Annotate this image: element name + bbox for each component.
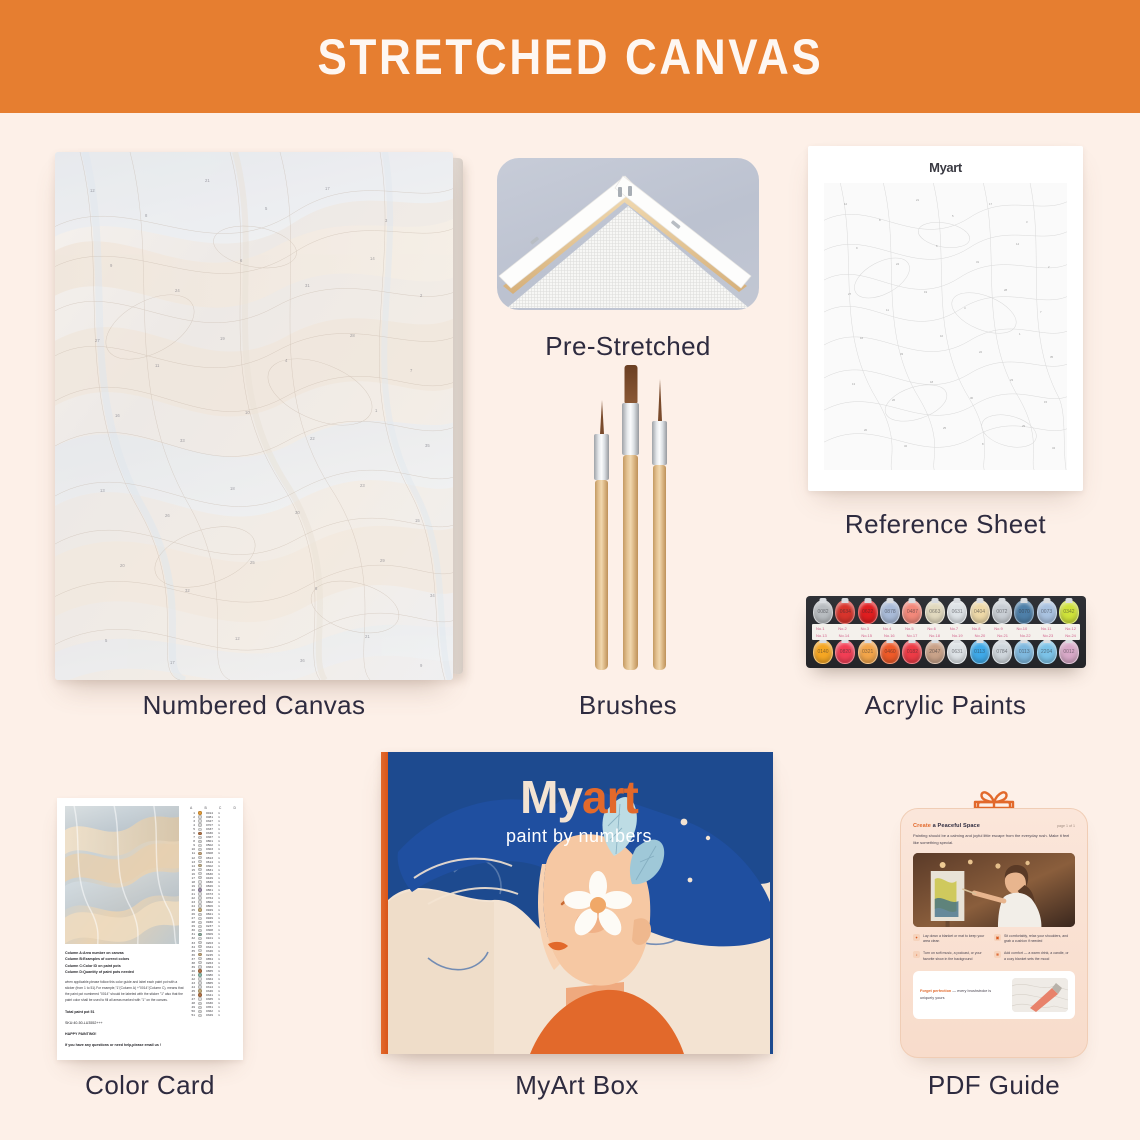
box-logo: Myart paint by numbers <box>388 774 770 847</box>
paint-label-strip: No.1No.2No.3No.4No.5No.6No.7No.8No.9No.1… <box>812 624 1080 640</box>
svg-text:20: 20 <box>120 563 125 568</box>
strip-number: No.14 <box>839 633 850 638</box>
svg-text:28: 28 <box>350 333 355 338</box>
th-c: C <box>219 806 221 810</box>
svg-text:18: 18 <box>930 380 934 384</box>
svg-text:22: 22 <box>310 436 315 441</box>
paint-pot: 0663 <box>925 600 945 624</box>
paint-pot: 0487 <box>902 600 922 624</box>
svg-text:30: 30 <box>295 510 300 515</box>
svg-text:12: 12 <box>90 188 95 193</box>
strip-number: No.3 <box>861 626 869 631</box>
pdf-guide-label: PDF Guide <box>890 1070 1098 1101</box>
svg-text:11: 11 <box>155 363 160 368</box>
paint-pot-code: 0460 <box>881 641 899 663</box>
color-card-sku: SKU:40-50-LU3552+++ <box>65 1020 185 1027</box>
svg-text:34: 34 <box>1052 446 1056 450</box>
color-card-contact: If you have any questions or need help,p… <box>65 1042 185 1049</box>
svg-text:21: 21 <box>916 198 920 202</box>
svg-text:29: 29 <box>380 558 385 563</box>
paint-pot-code: 0113 <box>971 641 989 663</box>
logo-my: My <box>520 771 582 823</box>
svg-text:25: 25 <box>250 560 255 565</box>
paint-pot: 0634 <box>835 600 855 624</box>
header-banner: STRETCHED CANVAS <box>0 0 1140 113</box>
reference-sheet-paper: Myart <box>808 146 1083 491</box>
strip-number: No.13 <box>816 633 827 638</box>
svg-text:10: 10 <box>245 410 250 415</box>
frame-corner-photo <box>497 158 759 310</box>
paint-pot: 0321 <box>858 640 878 664</box>
pdf-tip: ❋Add comfort — a warm drink, a candle, o… <box>994 951 1075 963</box>
strip-number: No.20 <box>975 633 986 638</box>
strip-number: No.24 <box>1065 633 1076 638</box>
paint-pot-code: 0182 <box>903 641 921 663</box>
svg-text:26: 26 <box>892 398 896 402</box>
paint-pot-code: 0404 <box>971 601 989 623</box>
paint-pot-code: 0634 <box>836 601 854 623</box>
brush-handle <box>595 480 608 670</box>
paint-pot: 2047 <box>925 640 945 664</box>
paint-pot: 0082 <box>813 600 833 624</box>
marble-pattern-artwork: 12821 5173 9246 31142 271119 4287 163310… <box>55 152 453 680</box>
logo-art: art <box>582 771 638 823</box>
pdf-guide-page: Create a Peaceful Space page 1 of 1 Pain… <box>900 808 1088 1058</box>
pdf-guide-photo <box>913 853 1075 927</box>
svg-text:36: 36 <box>300 658 305 663</box>
color-card-product: Column A:Area number on canvas Column B:… <box>57 798 243 1060</box>
paint-pot-row-top: 0082063406220878048706630631040400720070… <box>811 600 1081 624</box>
paint-pot-code: 0820 <box>836 641 854 663</box>
pdf-tip-text: Add comfort — a warm drink, a candle, or… <box>1004 951 1071 963</box>
svg-text:23: 23 <box>1010 378 1014 382</box>
paint-pot-code: 0140 <box>814 641 832 663</box>
color-card-table: A B C D 10014120081130327140707150337160… <box>185 806 237 1054</box>
legend-column-d: Column D:Quantity of paint pots needed <box>65 969 185 975</box>
finished-artwork-preview <box>65 806 179 944</box>
paint-pot: 0072 <box>992 600 1012 624</box>
svg-text:12: 12 <box>844 202 848 206</box>
brushes-label: Brushes <box>487 690 769 721</box>
pre-stretched-label: Pre-Stretched <box>487 331 769 362</box>
strip-number: No.19 <box>952 633 963 638</box>
strip-number: No.21 <box>997 633 1008 638</box>
paint-pot: 0820 <box>835 640 855 664</box>
brush-liner <box>653 402 666 670</box>
strip-number: No.18 <box>929 633 940 638</box>
strip-numbers-top: No.1No.2No.3No.4No.5No.6No.7No.8No.9No.1… <box>816 626 1076 631</box>
svg-text:16: 16 <box>115 413 120 418</box>
color-card-row: 5103291 <box>189 1013 237 1017</box>
th-b: B <box>204 806 206 810</box>
svg-text:19: 19 <box>924 290 928 294</box>
paint-pot-code: 0070 <box>1015 601 1033 623</box>
color-card-sheet: Column A:Area number on canvas Column B:… <box>57 798 243 1060</box>
numbered-canvas-label: Numbered Canvas <box>55 690 453 721</box>
myart-box-label: MyArt Box <box>381 1070 773 1101</box>
pdf-tip-text: Lay down a blanket or mat to keep your a… <box>923 934 990 946</box>
paint-pot-code: 0631 <box>948 601 966 623</box>
cushion-icon: ▣ <box>994 934 1001 941</box>
pdf-guide-title: Create a Peaceful Space <box>913 823 980 829</box>
paint-pot-row-bottom: 0140082003210460018220470631011307840113… <box>811 640 1081 664</box>
strip-number: No.22 <box>1020 633 1031 638</box>
strip-number: No.5 <box>905 626 913 631</box>
cell-area-number: 51 <box>189 1013 197 1017</box>
strip-number: No.17 <box>907 633 918 638</box>
brush-handle <box>623 455 638 670</box>
color-card-happy-painting: HAPPY PAINTING! <box>65 1031 185 1038</box>
pdf-tip: ♪Turn on soft music, a podcast, or your … <box>913 951 994 963</box>
reference-sheet-product: Myart <box>808 146 1083 491</box>
callout-highlight: Forget perfection <box>920 989 951 993</box>
brush-bristles <box>600 400 604 434</box>
strip-number: No.12 <box>1065 626 1076 631</box>
paint-pot: 0113 <box>970 640 990 664</box>
svg-text:14: 14 <box>1016 242 1020 246</box>
paint-pot: 0012 <box>1059 640 1079 664</box>
paint-pot: 0404 <box>970 600 990 624</box>
pre-stretched-product <box>497 158 759 310</box>
acrylic-paints-label: Acrylic Paints <box>798 690 1093 721</box>
svg-text:14: 14 <box>370 256 375 261</box>
svg-text:24: 24 <box>896 262 900 266</box>
pdf-guide-product: Create a Peaceful Space page 1 of 1 Pain… <box>900 786 1088 1058</box>
color-card-left-column: Column A:Area number on canvas Column B:… <box>65 806 185 1054</box>
strip-numbers-bottom: No.13No.14No.15No.16No.17No.18No.19No.20… <box>816 633 1076 638</box>
reference-sheet-label: Reference Sheet <box>798 509 1093 540</box>
svg-text:34: 34 <box>430 593 435 598</box>
pdf-tip: ✦Lay down a blanket or mat to keep your … <box>913 934 994 946</box>
paint-pot: 0784 <box>992 640 1012 664</box>
svg-text:12: 12 <box>235 636 240 641</box>
box-body: Myart paint by numbers <box>381 752 773 1054</box>
paint-pot-code: 0082 <box>814 601 832 623</box>
svg-text:11: 11 <box>886 308 889 312</box>
box-logo-text: Myart <box>388 774 770 820</box>
cell-quantity: 1 <box>216 1013 222 1017</box>
strip-number: No.7 <box>950 626 958 631</box>
canvas-face: 12821 5173 9246 31142 271119 4287 163310… <box>55 152 453 680</box>
pdf-guide-description: Painting should be a calming and joyful … <box>913 833 1075 847</box>
strip-number: No.8 <box>972 626 980 631</box>
svg-text:17: 17 <box>170 660 175 665</box>
pdf-title-highlight: Create <box>913 823 931 829</box>
brush-small-round <box>595 425 608 670</box>
svg-text:16: 16 <box>860 336 864 340</box>
svg-text:28: 28 <box>1004 288 1008 292</box>
color-card-legend: Column A:Area number on canvas Column B:… <box>65 950 185 975</box>
brush-ferrule <box>652 421 667 465</box>
svg-text:26: 26 <box>165 513 170 518</box>
color-card-table-body: 1001412008113032714070715033716033017036… <box>189 811 237 1017</box>
svg-text:30: 30 <box>970 396 974 400</box>
paint-pot: 0140 <box>813 640 833 664</box>
reference-sheet-lineart: 12821 5173 9246 31142 271119 4287 163310… <box>824 183 1067 470</box>
box-tagline: paint by numbers <box>388 826 770 847</box>
paint-pot: 0070 <box>1014 600 1034 624</box>
strip-number: No.9 <box>994 626 1002 631</box>
brush-bristles <box>624 365 637 403</box>
paint-pot: 0342 <box>1059 600 1079 624</box>
paint-pot-code: 0073 <box>1038 601 1056 623</box>
color-card-instructions: when applicable,please follow this color… <box>65 979 185 1003</box>
svg-text:17: 17 <box>325 186 330 191</box>
lineart-pattern: 12821 5173 9246 31142 271119 4287 163310… <box>824 183 1067 470</box>
callout-thumbnail <box>1012 978 1068 1012</box>
svg-text:27: 27 <box>848 292 852 296</box>
brush-ferrule <box>622 403 639 455</box>
svg-text:15: 15 <box>1044 400 1048 404</box>
svg-text:15: 15 <box>415 518 420 523</box>
brushes-product <box>583 385 675 670</box>
music-icon: ♪ <box>913 951 920 958</box>
svg-text:17: 17 <box>989 202 993 206</box>
th-a: A <box>190 806 192 810</box>
strip-number: No.4 <box>883 626 891 631</box>
svg-text:27: 27 <box>95 338 100 343</box>
paint-tray: 0082063406220878048706630631040400720070… <box>806 596 1086 668</box>
broom-icon: ✦ <box>913 934 920 941</box>
svg-text:21: 21 <box>205 178 210 183</box>
pdf-title-rest: a Peaceful Space <box>931 823 980 829</box>
svg-text:35: 35 <box>1050 355 1054 359</box>
brush-ferrule <box>594 434 609 480</box>
pdf-tip: ▣Sit comfortably, relax your shoulders, … <box>994 934 1075 946</box>
strip-number: No.1 <box>816 626 824 631</box>
strip-number: No.11 <box>1041 626 1051 631</box>
strip-number: No.10 <box>1017 626 1028 631</box>
myart-box-product: Myart paint by numbers <box>381 752 773 1054</box>
paint-pot: 0182 <box>902 640 922 664</box>
svg-text:25: 25 <box>943 426 947 430</box>
brush-flat <box>623 385 638 670</box>
brush-bristles <box>658 379 662 421</box>
paint-pot: 0631 <box>947 640 967 664</box>
acrylic-paints-product: 0082063406220878048706630631040400720070… <box>806 596 1086 668</box>
paint-pot-code: 0012 <box>1060 641 1078 663</box>
svg-text:31: 31 <box>305 283 310 288</box>
paint-pot-code: 2047 <box>926 641 944 663</box>
svg-text:33: 33 <box>180 438 185 443</box>
paint-pot: 0073 <box>1037 600 1057 624</box>
paint-pot-code: 0321 <box>859 641 877 663</box>
paint-pot-code: 0487 <box>903 601 921 623</box>
paint-pot-code: 0072 <box>993 601 1011 623</box>
th-d: D <box>234 806 236 810</box>
svg-text:10: 10 <box>940 334 944 338</box>
paint-pot-code: 0663 <box>926 601 944 623</box>
pdf-guide-callout: Forget perfection — every brushstroke is… <box>913 971 1075 1019</box>
strip-number: No.6 <box>927 626 935 631</box>
cell-color-id: 0329 <box>203 1013 216 1017</box>
brush-painting-thumbnail <box>1012 978 1068 1012</box>
paint-pot: 0631 <box>947 600 967 624</box>
color-card-label: Color Card <box>50 1070 250 1101</box>
svg-text:21: 21 <box>365 634 370 639</box>
svg-text:22: 22 <box>979 350 983 354</box>
svg-text:29: 29 <box>1022 424 1026 428</box>
paint-pot: 0878 <box>880 600 900 624</box>
box-front-panel: Myart paint by numbers <box>388 752 770 1054</box>
pdf-page-number: page 1 of 1 <box>1057 824 1075 828</box>
paint-pot: 2204 <box>1037 640 1057 664</box>
paint-pot-code: 0784 <box>993 641 1011 663</box>
callout-text: Forget perfection — every brushstroke is… <box>920 988 1006 1001</box>
svg-text:32: 32 <box>904 444 908 448</box>
svg-text:20: 20 <box>864 428 868 432</box>
svg-text:13: 13 <box>852 382 856 386</box>
paint-pot-code: 0342 <box>1060 601 1078 623</box>
pdf-tip-text: Sit comfortably, relax your shoulders, a… <box>1004 934 1071 946</box>
svg-text:13: 13 <box>100 488 105 493</box>
numbered-canvas-product: 12821 5173 9246 31142 271119 4287 163310… <box>55 152 453 680</box>
paint-pot-code: 0631 <box>948 641 966 663</box>
svg-text:32: 32 <box>185 588 190 593</box>
paint-pot: 0460 <box>880 640 900 664</box>
pdf-guide-tips: ✦Lay down a blanket or mat to keep your … <box>913 934 1075 969</box>
strip-number: No.15 <box>861 633 872 638</box>
svg-text:24: 24 <box>175 288 180 293</box>
paint-pot-code: 2204 <box>1038 641 1056 663</box>
color-card-total: Total paint pot 51 <box>65 1009 185 1016</box>
svg-text:33: 33 <box>900 352 904 356</box>
pdf-header-row: Create a Peaceful Space page 1 of 1 <box>913 823 1075 829</box>
paint-pot: 0113 <box>1014 640 1034 664</box>
box-left-edge <box>381 752 388 1054</box>
svg-text:35: 35 <box>425 443 430 448</box>
canvas-frame-corner-illustration <box>497 158 759 310</box>
paint-pot: 0622 <box>858 600 878 624</box>
color-card-artwork <box>65 806 179 944</box>
paint-pot-code: 0113 <box>1015 641 1033 663</box>
paint-pot-code: 0622 <box>859 601 877 623</box>
svg-text:19: 19 <box>220 336 225 341</box>
product-infographic: STRETCHED CANVAS <box>0 0 1140 1140</box>
strip-number: No.16 <box>884 633 895 638</box>
woman-painting-photo <box>913 853 1075 927</box>
svg-text:23: 23 <box>360 483 365 488</box>
svg-text:31: 31 <box>976 260 980 264</box>
candle-icon: ❋ <box>994 951 1001 958</box>
brush-handle <box>653 465 666 670</box>
svg-text:18: 18 <box>230 486 235 491</box>
strip-number: No.2 <box>838 626 846 631</box>
strip-number: No.23 <box>1043 633 1054 638</box>
pdf-tip-text: Turn on soft music, a podcast, or your f… <box>923 951 990 963</box>
reference-sheet-logo: Myart <box>824 160 1067 175</box>
page-title: STRETCHED CANVAS <box>317 28 823 86</box>
paint-pot-code: 0878 <box>881 601 899 623</box>
